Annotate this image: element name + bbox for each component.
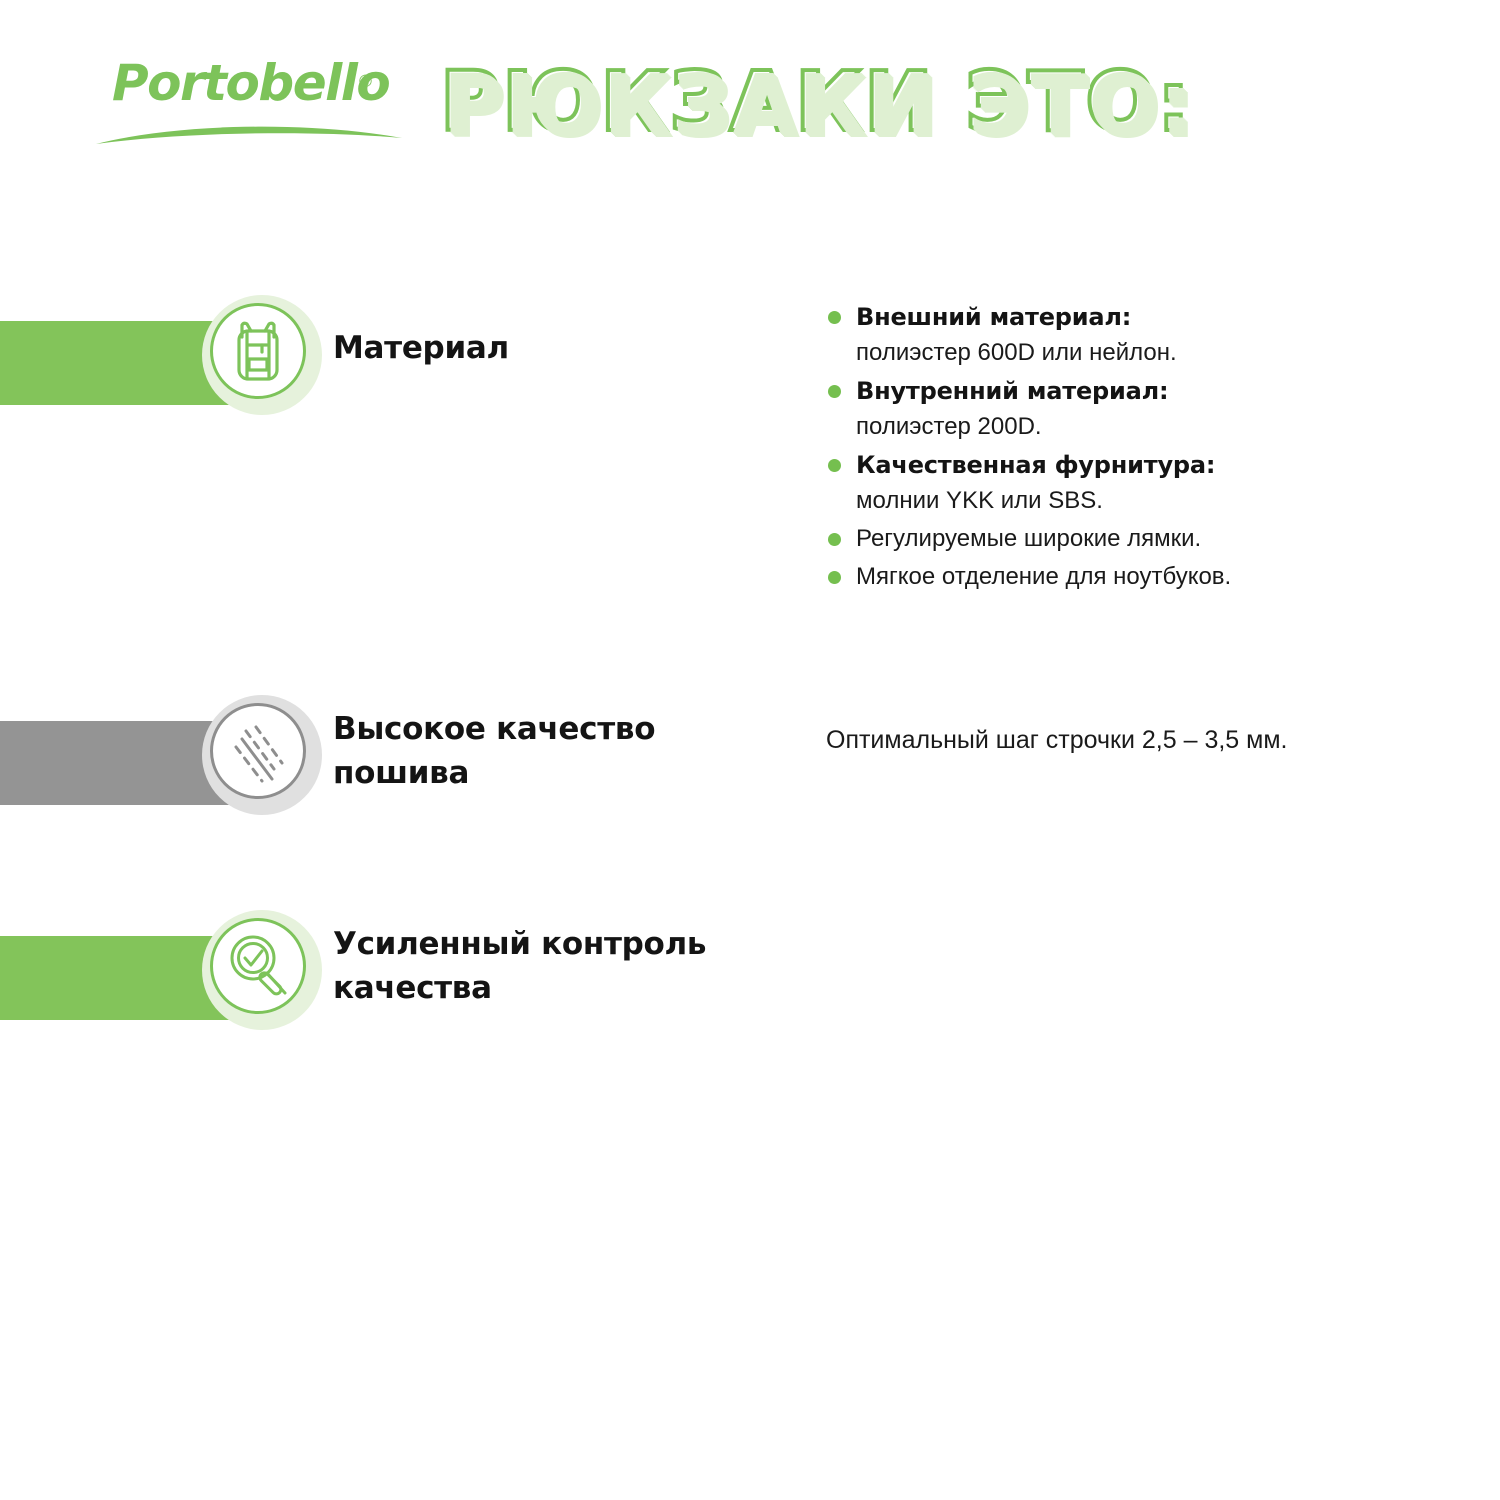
bullet-strong: Внутренний материал: (856, 373, 1446, 409)
feature-heading: Высокое качество пошива (333, 707, 783, 795)
bullet-plain: Регулируемые широкие лямки. (856, 521, 1446, 557)
backpack-icon (222, 315, 294, 387)
list-item: Внутренний материал: полиэстер 200D. (826, 373, 1446, 445)
magnifier-check-icon (222, 930, 294, 1002)
accent-bar (0, 721, 232, 805)
bullet-plain: молнии YKK или SBS. (856, 483, 1446, 519)
accent-bar (0, 321, 232, 405)
registered-trademark-icon: ® (357, 72, 374, 92)
list-item: Качественная фурнитура: молнии YKK или S… (826, 447, 1446, 519)
bullet-dot-icon (828, 459, 841, 472)
stitch-note: Оптимальный шаг строчки 2,5 – 3,5 мм. (826, 723, 1287, 757)
bullet-dot-icon (828, 571, 841, 584)
page-title: РЮКЗАКИ ЭТО: (440, 48, 1192, 158)
bullet-strong: Качественная фурнитура: (856, 447, 1446, 483)
logo-wordmark: Portobello (112, 58, 389, 108)
accent-bar (0, 936, 232, 1020)
list-item: Регулируемые широкие лямки. (826, 521, 1446, 557)
list-item: Внешний материал: полиэстер 600D или ней… (826, 299, 1446, 371)
feature-heading: Усиленный контроль качества (333, 922, 783, 1010)
bullet-dot-icon (828, 311, 841, 324)
logo-swoosh-icon (94, 116, 404, 146)
portobello-logo: Portobello ® (112, 58, 412, 153)
bullet-plain: полиэстер 600D или нейлон. (856, 335, 1446, 371)
list-item: Мягкое отделение для ноутбуков. (826, 559, 1446, 595)
header: Portobello ® РЮКЗАКИ ЭТО: (0, 0, 1500, 170)
feature-heading: Материал (333, 326, 783, 370)
bullet-dot-icon (828, 385, 841, 398)
stitching-icon (222, 715, 294, 787)
material-detail-list: Внешний материал: полиэстер 600D или ней… (826, 299, 1446, 597)
bullet-plain: Мягкое отделение для ноутбуков. (856, 559, 1446, 595)
bullet-dot-icon (828, 533, 841, 546)
bullet-strong: Внешний материал: (856, 299, 1446, 335)
bullet-plain: полиэстер 200D. (856, 409, 1446, 445)
